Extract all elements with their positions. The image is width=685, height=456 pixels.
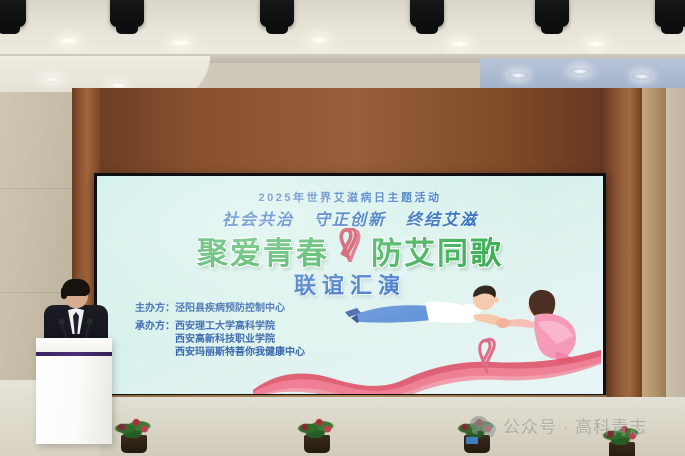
organizer-value: 西安理工大学高科学院 [175, 322, 305, 332]
led-screen: 2025年世界艾滋病日主题活动 社会共治守正创新终结艾滋 聚爱青春防艾同歌 联谊… [97, 176, 603, 394]
organizer-label: 主办方： [135, 304, 175, 317]
stage-spotlight-icon [260, 0, 294, 27]
plant-foliage [295, 414, 339, 438]
ceiling-downlight-icon [308, 36, 330, 44]
ceiling-downlight-icon [42, 76, 62, 83]
photo-scene: 2025年世界艾滋病日主题活动 社会共治守正创新终结艾滋 聚爱青春防艾同歌 联谊… [0, 0, 685, 456]
led-screen-frame: 2025年世界艾滋病日主题活动 社会共治守正创新终结艾滋 聚爱青春防艾同歌 联谊… [94, 173, 606, 397]
potted-plant [295, 414, 339, 453]
stage-spotlight-icon [110, 0, 144, 27]
ceiling-downlight-icon [570, 68, 590, 75]
ceiling-downlight-icon [632, 73, 652, 80]
stage-marker [466, 437, 478, 444]
wall-wood-column-right [600, 88, 642, 428]
stage-spotlight-icon [410, 0, 444, 27]
ceiling-downlight-icon [585, 40, 607, 48]
event-year-line: 2025年世界艾滋病日主题活动 [97, 189, 603, 205]
slogan-1: 社会共治 [222, 206, 294, 230]
wall-wood-column-right-outer [638, 88, 666, 428]
ceiling-downlight-icon [58, 37, 80, 45]
stage-spotlight-icon [0, 0, 26, 27]
organizer-values: 泾阳县疾病预防控制中心 [175, 304, 285, 317]
ceiling-downlight-icon [508, 72, 528, 79]
screen-illustration [313, 264, 603, 394]
wechat-icon [470, 416, 496, 435]
event-title-left: 聚爱青春 [197, 228, 329, 273]
ceiling-downlight-icon [448, 40, 470, 48]
podium-top [36, 338, 112, 352]
stage-spotlight-icon [655, 0, 685, 27]
organizer-row: 主办方： 泾阳县疾病预防控制中心 [135, 304, 305, 317]
organizer-label: 承办方： [135, 322, 175, 361]
ceiling-downlight-icon [170, 39, 192, 47]
slogan-2: 守正创新 [314, 206, 386, 230]
ceiling [0, 0, 685, 62]
watermark-text: 公众号 · 高科青志 [503, 413, 647, 438]
watermark: 公众号 · 高科青志 [470, 413, 647, 438]
podium-stripe [36, 352, 112, 356]
illustration-ribbon-banner [253, 332, 603, 394]
stage-spotlight-icon [535, 0, 569, 27]
podium-cable [0, 24, 3, 104]
figure-boy [345, 285, 505, 326]
organizer-value: 泾阳县疾病预防控制中心 [175, 304, 285, 314]
plant-foliage [112, 414, 156, 438]
slogan-3: 终结艾滋 [406, 206, 478, 230]
speaker-hair [62, 279, 90, 296]
joined-hands [496, 318, 510, 328]
event-slogans: 社会共治守正创新终结艾滋 [97, 206, 603, 230]
podium [36, 338, 112, 444]
potted-plant [112, 414, 156, 453]
